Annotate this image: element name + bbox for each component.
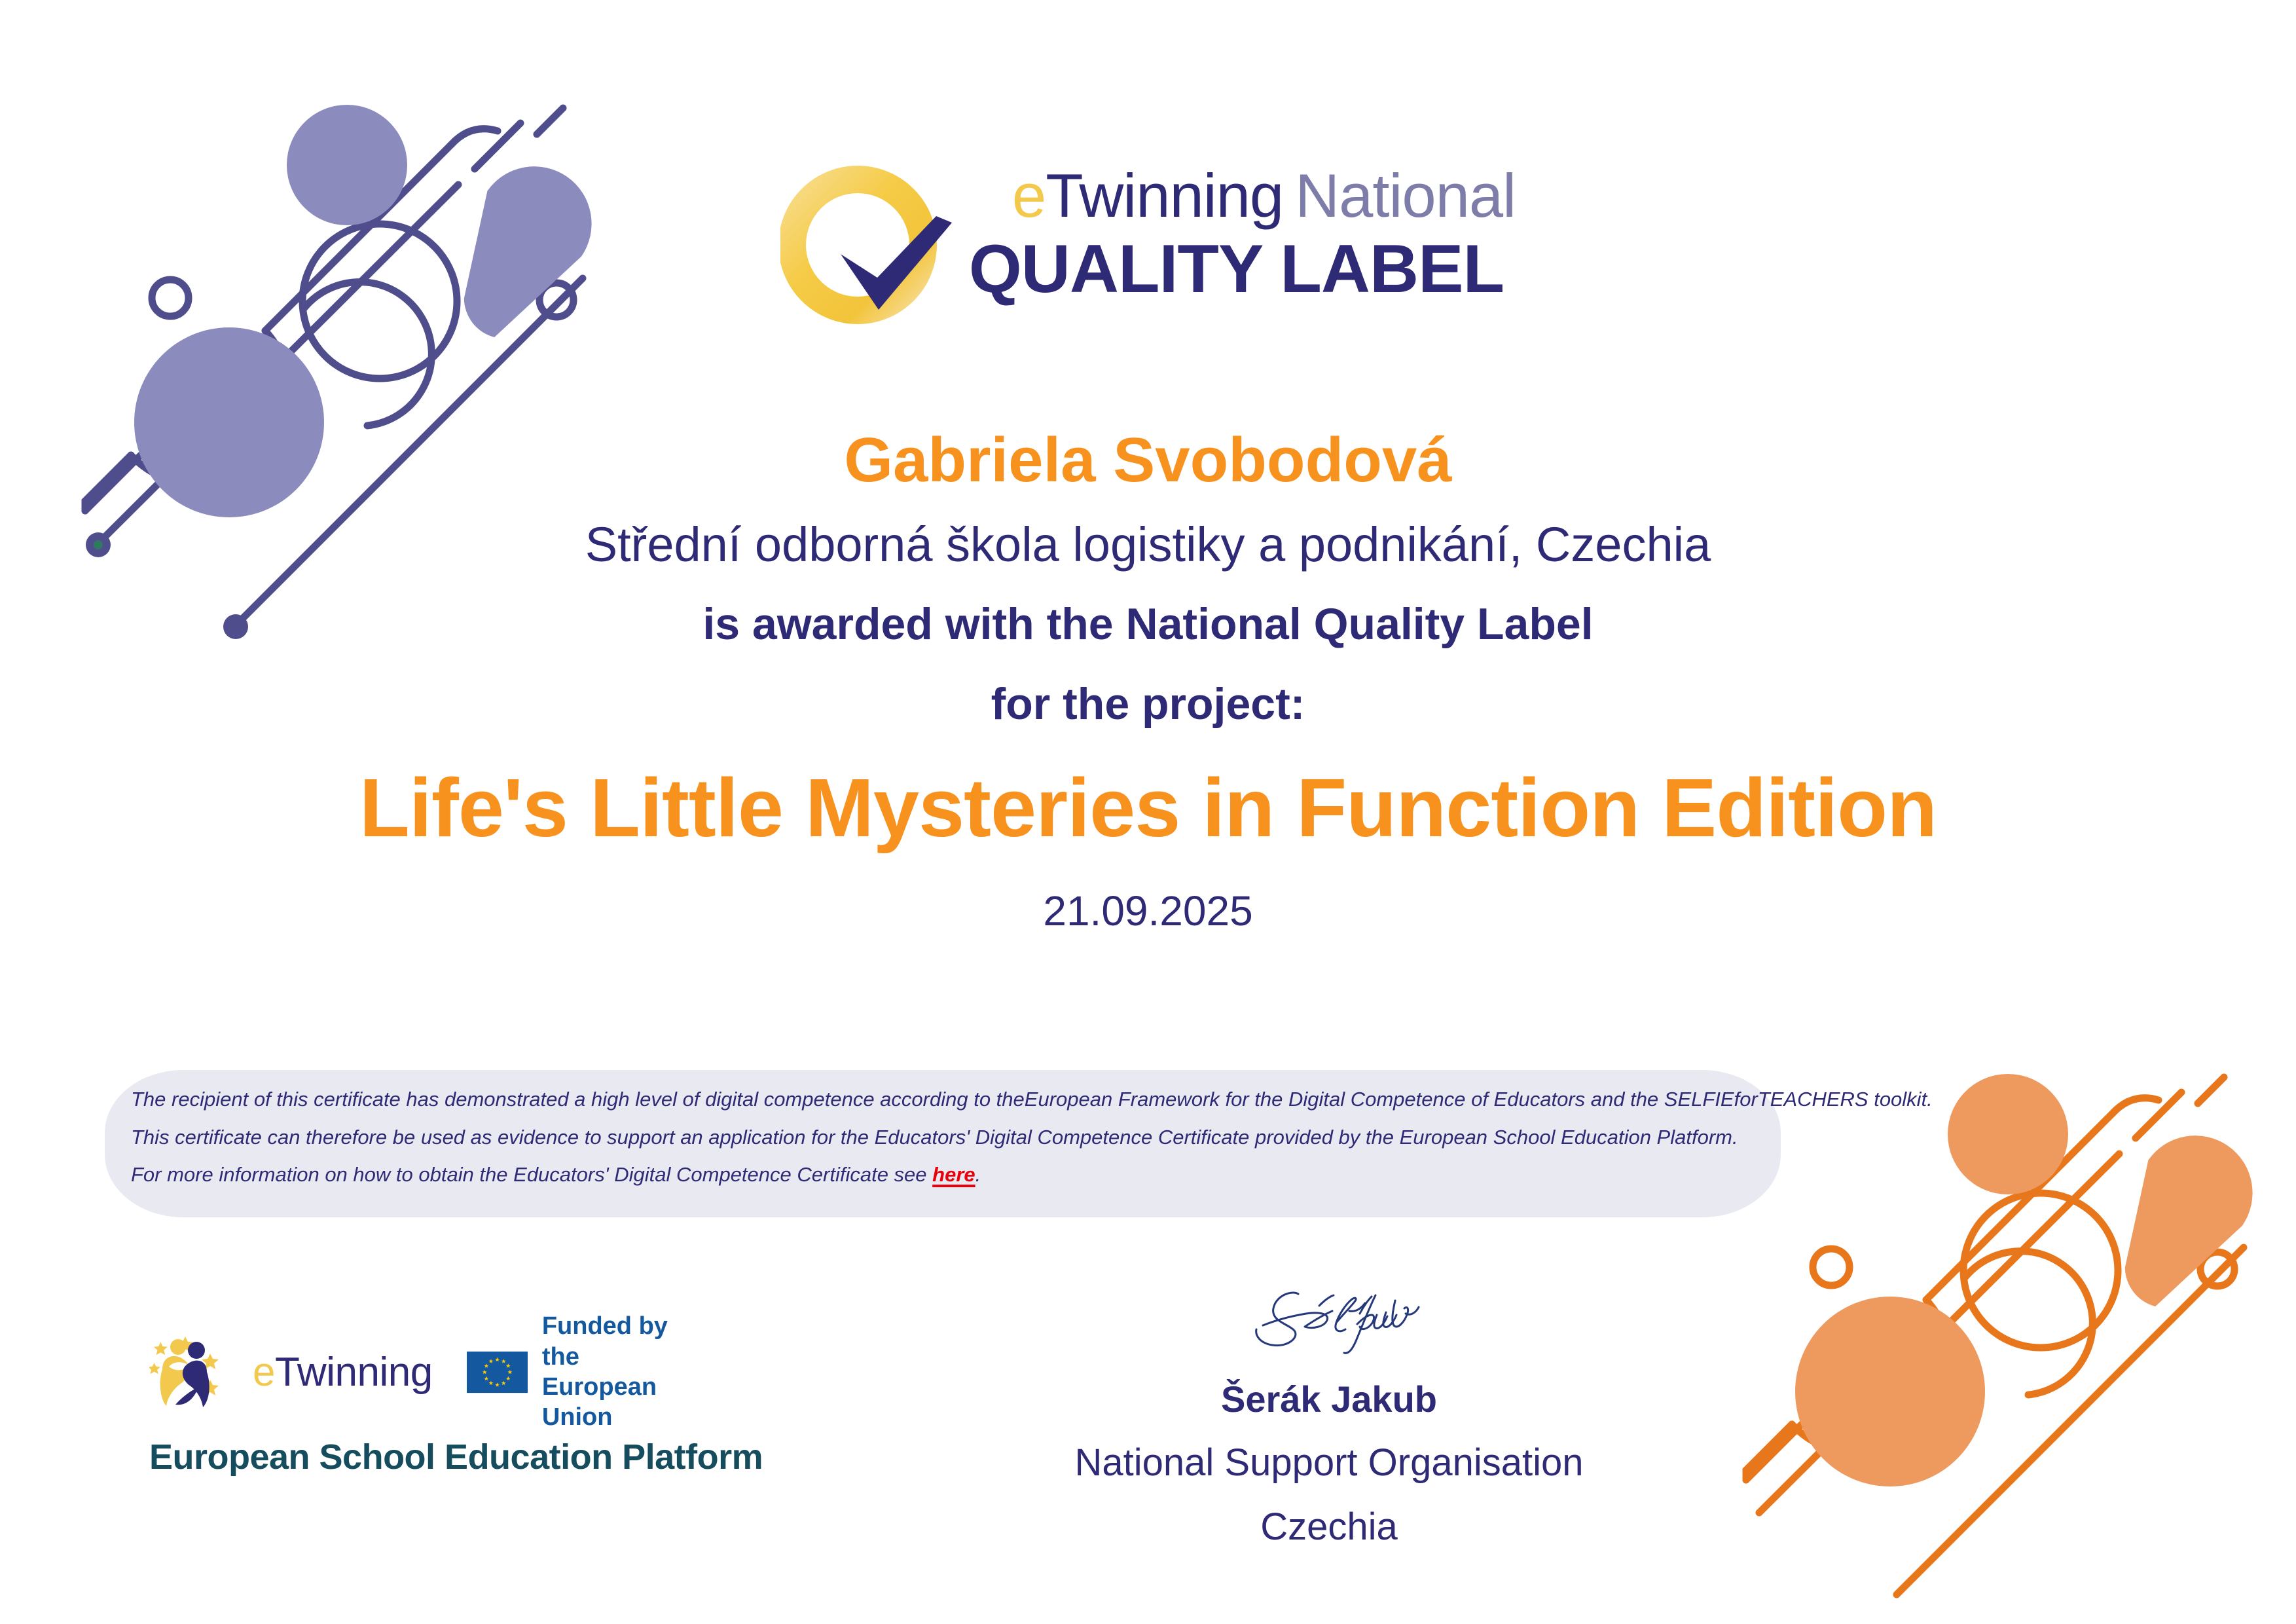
logo-twinning-word: Twinning [1046,161,1283,230]
recipient-school: Střední odborná škola logistiky a podnik… [0,521,2296,569]
etwinning-logo-text: eTwinning [253,1349,433,1395]
etwinning-logo-rest: Twinning [275,1350,433,1395]
eu-funding-line-2: the European Union [542,1342,699,1433]
signatory-role: National Support Organisation [1034,1444,1624,1482]
for-the-project-label: for the project: [0,682,2296,726]
etwinning-figures-icon [149,1333,247,1411]
quality-check-q-icon [780,162,957,339]
disclaimer-line-2: This certificate can therefore be used a… [131,1124,1755,1151]
disclaimer-line-3-prefix: For more information on how to obtain th… [131,1163,932,1186]
quality-label-logo: eTwinningNational QUALITY LABEL [0,156,2296,339]
signatory-name: Šerák Jakub [1034,1381,1624,1418]
disclaimer-line-3: For more information on how to obtain th… [131,1161,1755,1189]
project-title: Life's Little Mysteries in Function Edit… [0,767,2296,849]
certificate-page: eTwinningNational QUALITY LABEL Gabriela… [0,0,2296,1624]
signature-block: Šerák Jakub National Support Organisatio… [1034,1282,1624,1546]
logo-national-word: National [1283,161,1516,230]
recipient-name: Gabriela Svobodová [0,429,2296,492]
logo-e-letter: e [1012,161,1046,230]
award-statement: is awarded with the National Quality Lab… [0,602,2296,646]
decorative-graphic-bottom-right [1700,982,2289,1624]
footer-logos: eTwinning [149,1329,699,1477]
platform-name: European School Education Platform [149,1437,699,1477]
handwritten-signature-icon [1221,1282,1437,1367]
eu-funding-line-1: Funded by [542,1311,699,1341]
disclaimer-line-3-suffix: . [975,1163,981,1186]
here-link[interactable]: here [932,1163,975,1186]
etwinning-logo-e: e [253,1350,275,1395]
certificate-body: Gabriela Svobodová Střední odborná škola… [0,429,2296,932]
eu-flag-icon [467,1341,528,1403]
award-date: 21.09.2025 [0,890,2296,932]
disclaimer-box: The recipient of this certificate has de… [105,1070,1781,1217]
etwinning-logo: eTwinning [149,1333,433,1411]
logo-quality-label-word: QUALITY LABEL [935,231,1516,308]
eu-funding-logo: Funded by the European Union [467,1311,699,1432]
signatory-country: Czechia [1034,1508,1624,1546]
disclaimer-line-1: The recipient of this certificate has de… [131,1086,1755,1113]
